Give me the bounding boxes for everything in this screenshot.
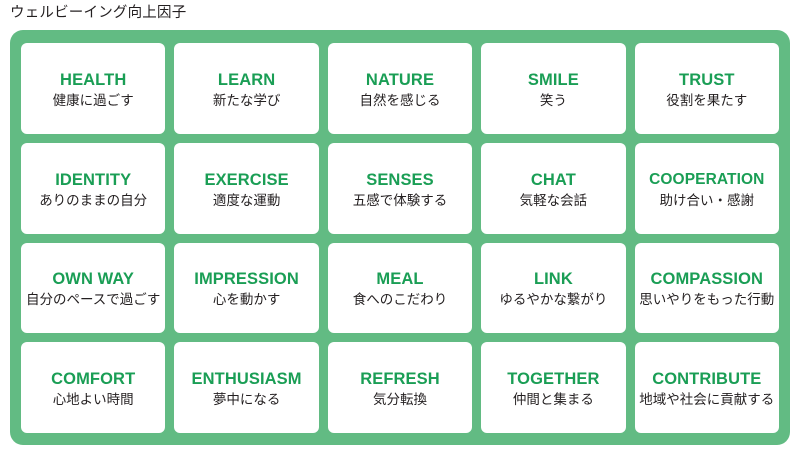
factor-card-subtitle: 助け合い・感謝 xyxy=(660,191,755,211)
factor-card[interactable]: CHAT気軽な会話 xyxy=(481,143,625,234)
factor-card[interactable]: EXERCISE適度な運動 xyxy=(174,143,318,234)
factor-card-title: SMILE xyxy=(528,70,579,90)
factor-card-title: TRUST xyxy=(679,70,735,90)
factor-card[interactable]: LINKゆるやかな繋がり xyxy=(481,243,625,334)
factor-card-title: CONTRIBUTE xyxy=(652,369,761,389)
factor-card-subtitle: 食へのこだわり xyxy=(353,290,448,310)
factor-card[interactable]: COMFORT心地よい時間 xyxy=(21,342,165,433)
factor-card[interactable]: ENTHUSIASM夢中になる xyxy=(174,342,318,433)
factor-card-subtitle: ありのままの自分 xyxy=(39,191,147,211)
factor-card[interactable]: LEARN新たな学び xyxy=(174,43,318,134)
factor-card-subtitle: 五感で体験する xyxy=(353,191,448,211)
factor-card-title: TOGETHER xyxy=(507,369,599,389)
factor-card-subtitle: 役割を果たす xyxy=(666,91,747,111)
factor-card[interactable]: COOPERATION助け合い・感謝 xyxy=(635,143,779,234)
factor-card-title: COMPASSION xyxy=(651,269,764,289)
factor-card-title: ENTHUSIASM xyxy=(192,369,302,389)
factor-card-subtitle: 地域や社会に貢献する xyxy=(639,390,774,410)
factor-card-subtitle: 気分転換 xyxy=(373,390,427,410)
factor-card-subtitle: 心地よい時間 xyxy=(53,390,134,410)
factor-card-subtitle: 仲間と集まる xyxy=(513,390,594,410)
factor-card-subtitle: 健康に過ごす xyxy=(53,91,134,111)
factor-card-subtitle: 適度な運動 xyxy=(213,191,281,211)
factor-card[interactable]: TRUST役割を果たす xyxy=(635,43,779,134)
factor-card[interactable]: HEALTH健康に過ごす xyxy=(21,43,165,134)
factor-card-title: CHAT xyxy=(531,170,576,190)
factor-card[interactable]: SENSES五感で体験する xyxy=(328,143,472,234)
factor-card-title: NATURE xyxy=(366,70,434,90)
factor-card[interactable]: SMILE笑う xyxy=(481,43,625,134)
factor-card-title: IDENTITY xyxy=(55,170,131,190)
factor-card[interactable]: IMPRESSION心を動かす xyxy=(174,243,318,334)
factors-panel: HEALTH健康に過ごすLEARN新たな学びNATURE自然を感じるSMILE笑… xyxy=(10,30,790,445)
factor-card[interactable]: IDENTITYありのままの自分 xyxy=(21,143,165,234)
factor-card-title: OWN WAY xyxy=(52,269,134,289)
factors-grid: HEALTH健康に過ごすLEARN新たな学びNATURE自然を感じるSMILE笑… xyxy=(21,43,779,433)
factor-card[interactable]: OWN WAY自分のペースで過ごす xyxy=(21,243,165,334)
factor-card-title: COMFORT xyxy=(51,369,135,389)
factor-card-title: SENSES xyxy=(366,170,434,190)
factor-card-subtitle: 自分のペースで過ごす xyxy=(26,290,160,310)
wellbeing-factors-page: ウェルビーイング向上因子 HEALTH健康に過ごすLEARN新たな学びNATUR… xyxy=(0,0,800,455)
factor-card[interactable]: NATURE自然を感じる xyxy=(328,43,472,134)
factor-card[interactable]: COMPASSION思いやりをもった行動 xyxy=(635,243,779,334)
factor-card[interactable]: TOGETHER仲間と集まる xyxy=(481,342,625,433)
factor-card[interactable]: CONTRIBUTE地域や社会に貢献する xyxy=(635,342,779,433)
factor-card-title: MEAL xyxy=(376,269,423,289)
factor-card[interactable]: MEAL食へのこだわり xyxy=(328,243,472,334)
factor-card-title: HEALTH xyxy=(60,70,126,90)
factor-card[interactable]: REFRESH気分転換 xyxy=(328,342,472,433)
factor-card-title: IMPRESSION xyxy=(194,269,299,289)
factor-card-subtitle: 笑う xyxy=(540,91,567,111)
factor-card-title: COOPERATION xyxy=(649,170,764,190)
factor-card-subtitle: 自然を感じる xyxy=(359,91,440,111)
factor-card-title: EXERCISE xyxy=(204,170,288,190)
factor-card-subtitle: 夢中になる xyxy=(213,390,281,410)
factor-card-title: REFRESH xyxy=(360,369,440,389)
factor-card-title: LINK xyxy=(534,269,573,289)
factor-card-subtitle: ゆるやかな繋がり xyxy=(499,290,607,310)
page-title: ウェルビーイング向上因子 xyxy=(10,3,186,23)
factor-card-subtitle: 思いやりをもった行動 xyxy=(639,290,774,310)
factor-card-subtitle: 新たな学び xyxy=(213,91,281,111)
factor-card-subtitle: 心を動かす xyxy=(213,290,281,310)
factor-card-subtitle: 気軽な会話 xyxy=(520,191,588,211)
factor-card-title: LEARN xyxy=(218,70,275,90)
